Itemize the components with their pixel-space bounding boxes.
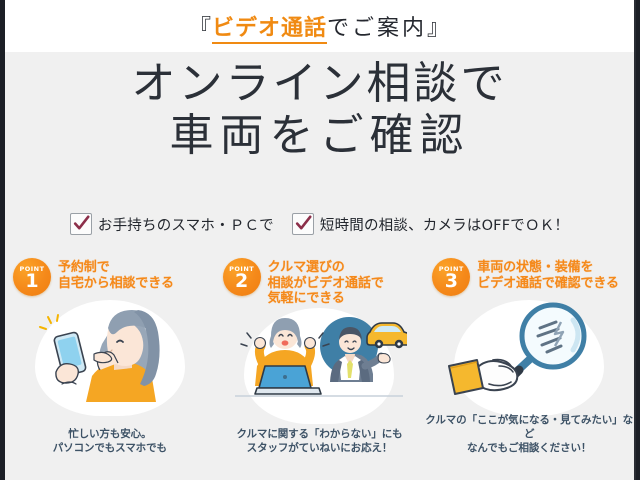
- point-caption-line-1: クルマに関する「わからない」にも: [215, 427, 425, 441]
- checkmark-icon: [70, 213, 92, 235]
- point-title-line-2: 自宅から相談できる: [58, 276, 174, 292]
- point-title-line-3: 気軽にできる: [268, 291, 384, 307]
- point-title: クルマ選びの 相談がビデオ通話で 気軽にできる: [268, 258, 384, 307]
- point-caption-line-1: クルマの「ここが気になる・見てみたい」など: [424, 413, 634, 441]
- point-header: POINT 1 予約制で 自宅から相談できる: [13, 258, 174, 296]
- point-column-2: POINT 2 クルマ選びの 相談がビデオ通話で 気軽にできる: [215, 252, 425, 467]
- point-title-line-1: 車両の状態・装備を: [477, 260, 619, 276]
- check-label: お手持ちのスマホ・ＰＣで: [98, 214, 274, 235]
- point-caption: クルマに関する「わからない」にも スタッフがていねいにお応え！: [215, 427, 425, 455]
- point-caption-line-2: なんでもご相談ください！: [424, 441, 634, 455]
- point-title: 車両の状態・装備を ビデオ通話で確認できる: [477, 258, 619, 291]
- point-title-line-2: ビデオ通話で確認できる: [477, 276, 619, 292]
- point-badge-number: 1: [25, 272, 38, 291]
- point-title-line-2: 相談がビデオ通話で: [268, 276, 384, 292]
- bracket-close: 』: [427, 16, 450, 41]
- points-row: POINT 1 予約制で 自宅から相談できる: [5, 252, 634, 467]
- point-column-1: POINT 1 予約制で 自宅から相談できる: [5, 252, 215, 467]
- point-title: 予約制で 自宅から相談できる: [58, 258, 174, 291]
- check-label: 短時間の相談、カメラはOFFでＯＫ！: [320, 214, 569, 235]
- point-caption: クルマの「ここが気になる・見てみたい」など なんでもご相談ください！: [424, 413, 634, 455]
- headline-line-1: オンライン相談で: [5, 58, 634, 110]
- checkmark-icon: [292, 213, 314, 235]
- promo-banner: 『ビデオ通話でご案内』 オンライン相談で 車両をご確認 お手持ちのスマホ・ＰＣで…: [5, 0, 636, 480]
- headline: オンライン相談で 車両をご確認: [5, 58, 634, 162]
- headline-line-2: 車両をご確認: [5, 110, 634, 162]
- header-highlight: ビデオ通話: [212, 16, 327, 44]
- point-header: POINT 2 クルマ選びの 相談がビデオ通話で 気軽にできる: [223, 258, 384, 307]
- point-badge-icon: POINT 2: [223, 258, 261, 296]
- point-title-line-1: クルマ選びの: [268, 260, 384, 276]
- bracket-open: 『: [189, 16, 212, 41]
- point-badge-icon: POINT 3: [432, 258, 470, 296]
- point-title-line-1: 予約制で: [58, 260, 174, 276]
- check-list: お手持ちのスマホ・ＰＣで 短時間の相談、カメラはOFFでＯＫ！: [5, 213, 634, 235]
- point-badge-number: 2: [235, 272, 248, 291]
- point-caption-line-2: パソコンでもスマホでも: [5, 441, 215, 455]
- header-tail: でご案内: [327, 16, 427, 41]
- point-badge-icon: POINT 1: [13, 258, 51, 296]
- point-caption-line-2: スタッフがていねいにお応え！: [215, 441, 425, 455]
- woman-with-smartphone-illustration: [22, 298, 198, 402]
- point-caption: 忙しい方も安心。 パソコンでもスマホでも: [5, 427, 215, 455]
- hand-with-magnifier-illustration: [441, 298, 617, 402]
- point-badge-number: 3: [445, 272, 458, 291]
- check-item: お手持ちのスマホ・ＰＣで: [70, 213, 274, 235]
- header-band: 『ビデオ通話でご案内』: [5, 0, 634, 52]
- point-header: POINT 3 車両の状態・装備を ビデオ通話で確認できる: [432, 258, 619, 296]
- point-caption-line-1: 忙しい方も安心。: [5, 427, 215, 441]
- woman-laptop-and-staff-illustration: [231, 306, 407, 410]
- check-item: 短時間の相談、カメラはOFFでＯＫ！: [292, 213, 569, 235]
- point-column-3: POINT 3 車両の状態・装備を ビデオ通話で確認できる: [424, 252, 634, 467]
- header-title: 『ビデオ通話でご案内』: [189, 10, 450, 42]
